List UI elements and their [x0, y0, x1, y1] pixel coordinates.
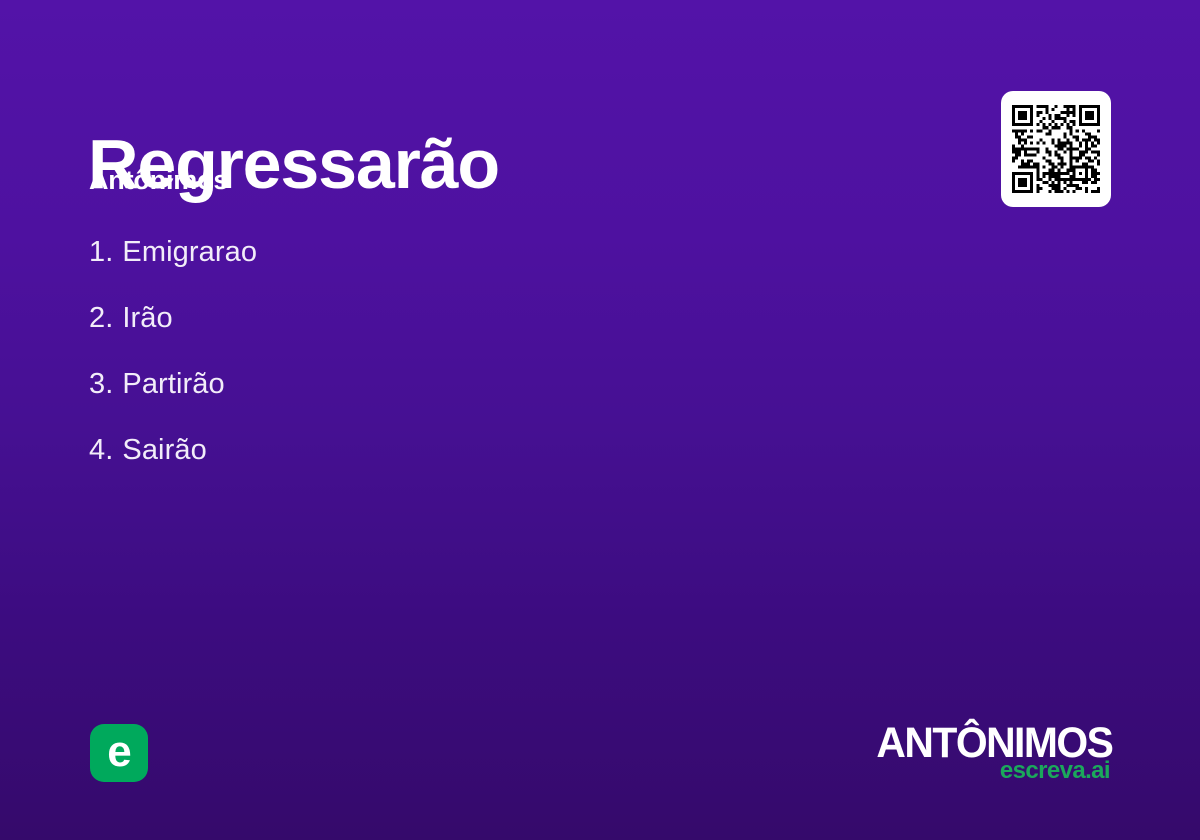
qr-code-icon	[1012, 105, 1100, 193]
list-item-index: 3.	[89, 368, 113, 401]
list-item-index: 1.	[89, 236, 113, 269]
brand-badge: e	[90, 724, 148, 782]
footer-logo-title: ANTÔNIMOS	[876, 722, 1112, 765]
list-item-word: Partirão	[122, 368, 224, 401]
list-item: 3. Partirão	[89, 368, 869, 434]
list-item-word: Emigrarao	[122, 236, 257, 269]
brand-badge-letter: e	[107, 730, 130, 774]
word-card: Regressarão Antônimos 1. Emigrarao 2. Ir…	[0, 0, 1200, 840]
list-item-index: 4.	[89, 434, 113, 467]
page-subtitle: Antônimos	[89, 167, 228, 194]
antonym-list: 1. Emigrarao 2. Irão 3. Partirão 4. Sair…	[89, 236, 869, 500]
list-item-index: 2.	[89, 302, 113, 335]
list-item: 4. Sairão	[89, 434, 869, 500]
list-item-word: Sairão	[122, 434, 206, 467]
list-item-word: Irão	[122, 302, 172, 335]
qr-code-container[interactable]	[1001, 91, 1111, 207]
footer-logo: ANTÔNIMOS escreva.ai	[864, 722, 1112, 783]
list-item: 2. Irão	[89, 302, 869, 368]
list-item: 1. Emigrarao	[89, 236, 869, 302]
